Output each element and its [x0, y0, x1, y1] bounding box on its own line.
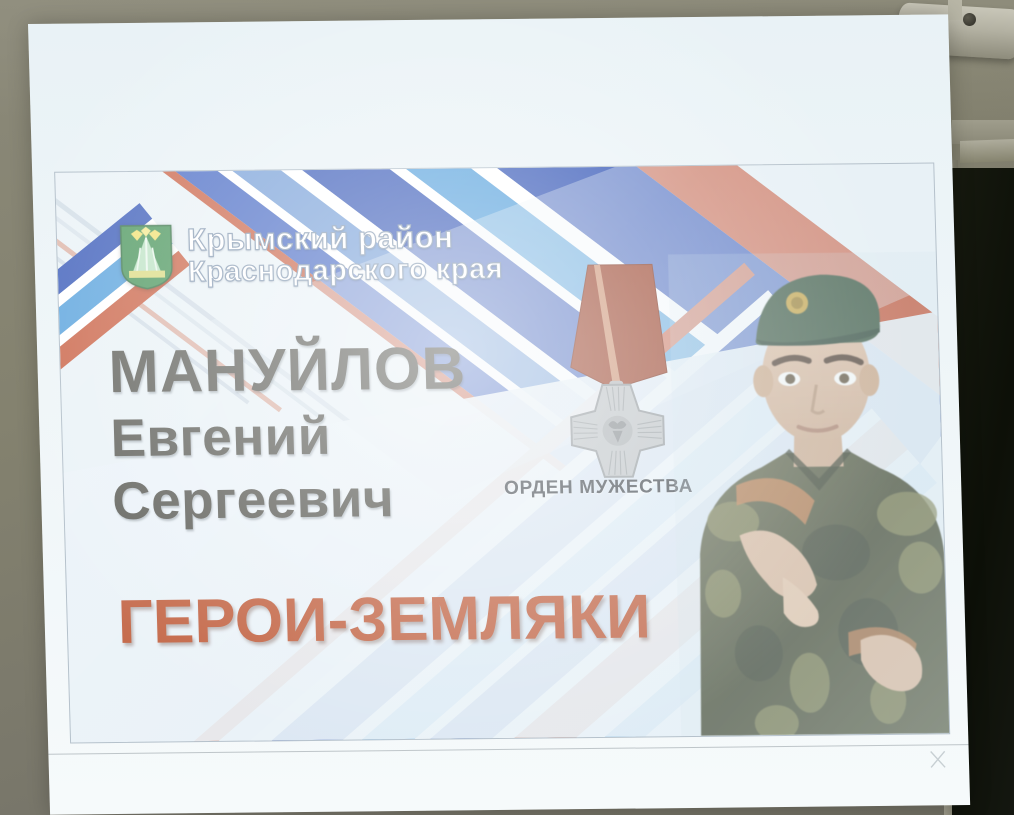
order-of-courage-medal: [548, 262, 684, 481]
blackboard-chalk-ledge: [960, 139, 1014, 163]
org-line-1: Крымский район: [187, 221, 503, 256]
person-surname: МАНУЙЛОВ: [108, 338, 467, 402]
screen-seam-line: [48, 744, 968, 755]
roller-mount-bracket: [948, 0, 962, 20]
roller-mount-screw: [963, 13, 976, 26]
award-caption: ОРДЕН МУЖЕСТВА: [504, 476, 693, 500]
screen-scuff-mark: [929, 749, 948, 769]
presentation-slide: Крымский район Краснодарского края МАНУЙ…: [54, 162, 950, 743]
person-name-block: МАНУЙЛОВ Евгений Сергеевич: [108, 338, 470, 528]
slide-title-heroes: ГЕРОИ-ЗЕМЛЯКИ: [117, 581, 652, 658]
screenshot-root: Крымский район Краснодарского края МАНУЙ…: [0, 0, 1014, 815]
organization-branding: Крымский район Краснодарского края: [119, 220, 504, 290]
projection-screen: Крымский район Краснодарского края МАНУЙ…: [28, 14, 970, 814]
person-first-name: Евгений: [110, 408, 469, 465]
coat-of-arms-icon: [119, 223, 175, 290]
soldier-portrait: [668, 251, 949, 736]
person-patronymic: Сергеевич: [112, 471, 471, 528]
org-line-2: Краснодарского края: [188, 255, 504, 288]
